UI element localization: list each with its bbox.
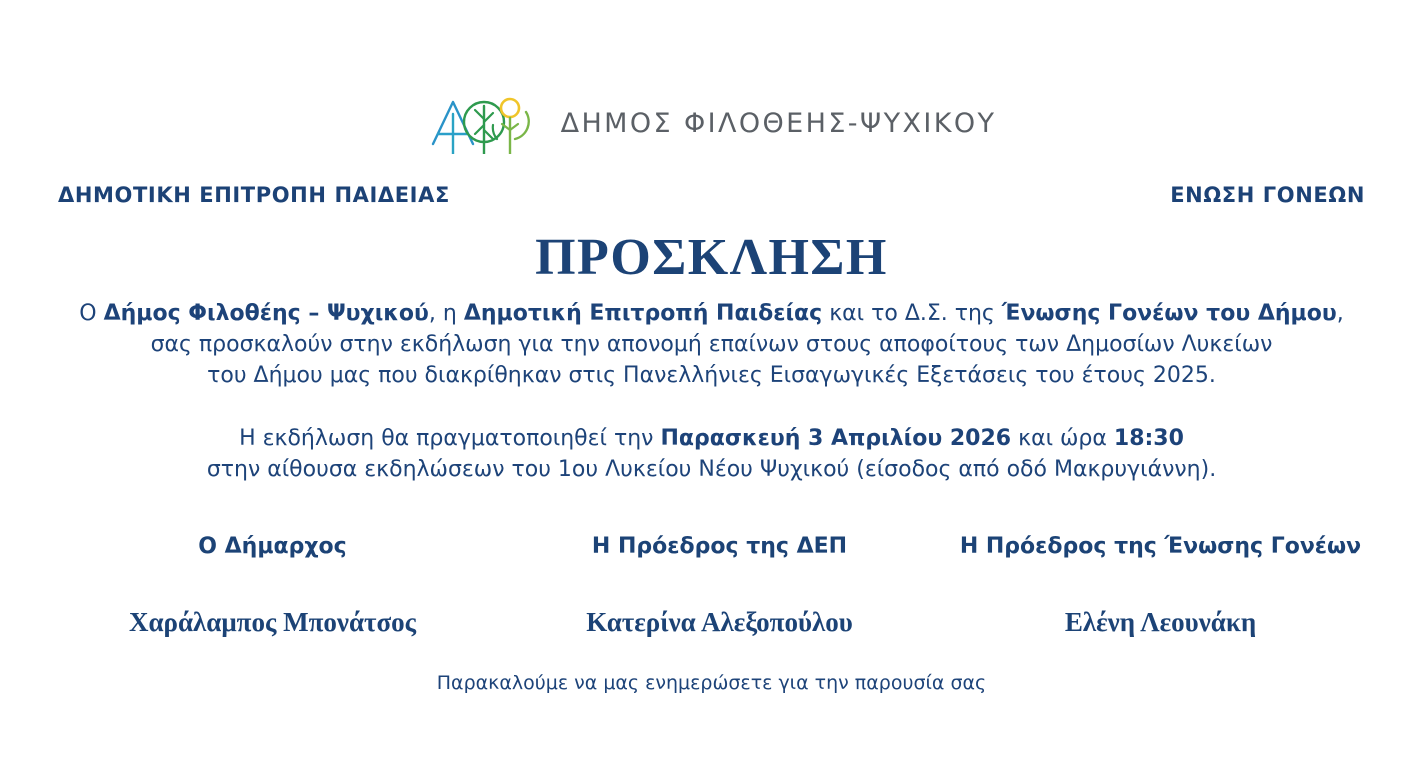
intro-text-2: , η <box>429 301 464 326</box>
signature-block-parents-union-president: Η Πρόεδρος της Ένωσης Γονέων Ελένη Λεουν… <box>948 534 1373 638</box>
when-text-2: και ώρα <box>1011 426 1114 451</box>
signature-block-dep-president: Η Πρόεδρος της ΔΕΠ Κατερίνα Αλεξοπούλου <box>507 534 932 638</box>
signature-role: Η Πρόεδρος της ΔΕΠ <box>507 534 932 559</box>
signature-name: Χαράλαμπος Μπονάτσος <box>60 607 485 638</box>
signature-name: Ελένη Λεουνάκη <box>948 607 1373 638</box>
intro-bold-parents-union: Ένωσης Γονέων του Δήμου <box>1002 301 1337 326</box>
logo-wordmark: ΔΗΜΟΣ ΦΙΛΟΘΕΗΣ-ΨΥΧΙΚΟΥ <box>561 108 997 139</box>
signature-role: Η Πρόεδρος της Ένωσης Γονέων <box>948 534 1373 559</box>
page-title: ΠΡΟΣΚΛΗΣΗ <box>0 228 1423 287</box>
org-right-label: ΕΝΩΣΗ ΓΟΝΕΩΝ <box>1170 183 1365 207</box>
intro-paragraph: Ο Δήμος Φιλοθέης – Ψυχικού, η Δημοτική Ε… <box>0 298 1423 391</box>
when-text-1: Η εκδήλωση θα πραγματοποιηθεί την <box>239 426 660 451</box>
logo-header: ΔΗΜΟΣ ΦΙΛΟΘΕΗΣ-ΨΥΧΙΚΟΥ <box>0 92 1423 154</box>
intro-bold-committee: Δημοτική Επιτροπή Παιδείας <box>464 301 822 326</box>
event-time: 18:30 <box>1114 426 1184 451</box>
signature-role: Ο Δήμαρχος <box>60 534 485 559</box>
intro-text-1: Ο <box>79 301 103 326</box>
event-venue: στην αίθουσα εκδηλώσεων του 1ου Λυκείου … <box>207 457 1216 482</box>
invitation-body: Ο Δήμος Φιλοθέης – Ψυχικού, η Δημοτική Ε… <box>0 298 1423 485</box>
intro-line-2: σας προσκαλούν στην εκδήλωση για την απο… <box>151 332 1273 357</box>
intro-text-4: , <box>1337 301 1344 326</box>
intro-line-3: του Δήμου μας που διακρίθηκαν στις Πανελ… <box>207 363 1216 388</box>
event-details-paragraph: Η εκδήλωση θα πραγματοποιηθεί την Παρασκ… <box>0 423 1423 485</box>
rsvp-note: Παρακαλούμε να μας ενημερώσετε για την π… <box>0 672 1423 694</box>
signature-name: Κατερίνα Αλεξοπούλου <box>507 607 932 638</box>
intro-bold-municipality: Δήμος Φιλοθέης – Ψυχικού <box>104 301 429 326</box>
municipality-trees-logo-icon <box>427 92 539 154</box>
org-left-label: ΔΗΜΟΤΙΚΗ ΕΠΙΤΡΟΠΗ ΠΑΙΔΕΙΑΣ <box>58 183 450 207</box>
signatures-row: Ο Δήμαρχος Χαράλαμπος Μπονάτσος Η Πρόεδρ… <box>0 534 1423 638</box>
organisations-row: ΔΗΜΟΤΙΚΗ ΕΠΙΤΡΟΠΗ ΠΑΙΔΕΙΑΣ ΕΝΩΣΗ ΓΟΝΕΩΝ <box>0 183 1423 207</box>
event-date: Παρασκευή 3 Απριλίου 2026 <box>660 426 1011 451</box>
invitation-document: ΔΗΜΟΣ ΦΙΛΟΘΕΗΣ-ΨΥΧΙΚΟΥ ΔΗΜΟΤΙΚΗ ΕΠΙΤΡΟΠΗ… <box>0 0 1423 772</box>
signature-block-mayor: Ο Δήμαρχος Χαράλαμπος Μπονάτσος <box>60 534 485 638</box>
intro-text-3: και το Δ.Σ. της <box>822 301 1002 326</box>
